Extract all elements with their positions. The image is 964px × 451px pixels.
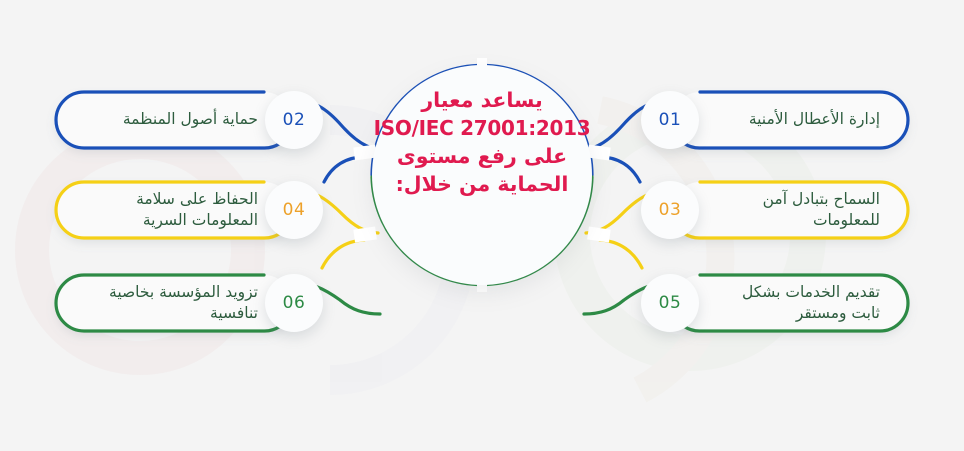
pill-label-01: إدارة الأعطال الأمنية bbox=[700, 109, 880, 130]
pill-label-03: السماح بتبادل آمن للمعلومات bbox=[700, 189, 880, 231]
connector-03-hook bbox=[600, 240, 642, 268]
number-label-05: 05 bbox=[659, 293, 682, 313]
number-label-01: 01 bbox=[659, 110, 682, 130]
number-bubble-02[interactable]: 02 bbox=[265, 91, 323, 149]
number-bubble-05[interactable]: 05 bbox=[641, 274, 699, 332]
center-title: يساعد معيار ISO/IEC 27001:2013 على رفع م… bbox=[372, 86, 592, 198]
pill-label-06: تزويد المؤسسة بخاصية تنافسية bbox=[88, 282, 258, 324]
number-label-06: 06 bbox=[283, 293, 306, 313]
infographic-canvas: يساعد معيار ISO/IEC 27001:2013 على رفع م… bbox=[0, 0, 964, 451]
number-label-03: 03 bbox=[659, 200, 682, 220]
pill-label-04: الحفاظ على سلامة المعلومات السرية bbox=[98, 189, 258, 231]
number-bubble-04[interactable]: 04 bbox=[265, 181, 323, 239]
number-bubble-03[interactable]: 03 bbox=[641, 181, 699, 239]
connector-02-hook bbox=[324, 157, 364, 182]
number-bubble-01[interactable]: 01 bbox=[641, 91, 699, 149]
connector-04-hook bbox=[322, 240, 364, 268]
center-title-standard: ISO/IEC 27001:2013 bbox=[372, 114, 592, 142]
center-title-line-1: يساعد معيار bbox=[372, 86, 592, 114]
center-title-line-4: الحماية من خلال: bbox=[372, 170, 592, 198]
number-label-02: 02 bbox=[283, 110, 306, 130]
center-title-line-3: على رفع مستوى bbox=[372, 142, 592, 170]
pill-label-05: تقديم الخدمات بشكل ثابت ومستقر bbox=[700, 282, 880, 324]
number-bubble-06[interactable]: 06 bbox=[265, 274, 323, 332]
number-label-04: 04 bbox=[283, 200, 306, 220]
pill-label-02: حماية أصول المنظمة bbox=[98, 109, 258, 130]
